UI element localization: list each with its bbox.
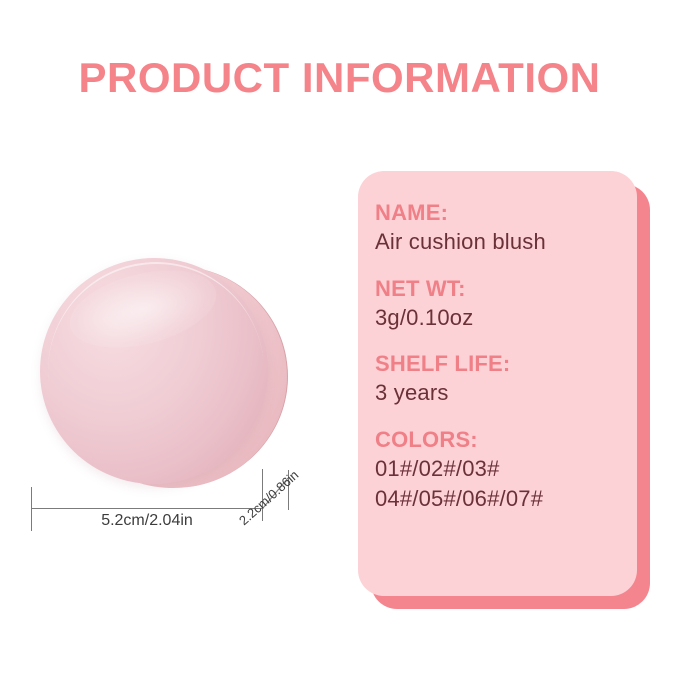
spec-row-shelf-life: SHELF LIFE: 3 years — [375, 350, 637, 408]
spec-row-net-wt: NET WT: 3g/0.10oz — [375, 275, 637, 333]
spec-label-name: NAME: — [375, 199, 637, 227]
product-info-card: NAME: Air cushion blush NET WT: 3g/0.10o… — [358, 171, 650, 609]
spec-label-colors: COLORS: — [375, 426, 637, 454]
spec-row-colors: COLORS: 01#/02#/03# 04#/05#/06#/07# — [375, 426, 637, 513]
height-dimension-label: 2.2cm/0.86in — [236, 467, 301, 528]
spec-value-name: Air cushion blush — [375, 227, 637, 256]
spec-label-net-wt: NET WT: — [375, 275, 637, 303]
spec-label-shelf-life: SHELF LIFE: — [375, 350, 637, 378]
spec-value-net-wt: 3g/0.10oz — [375, 303, 637, 332]
width-dimension-label: 5.2cm/2.04in — [31, 512, 263, 530]
card-surface: NAME: Air cushion blush NET WT: 3g/0.10o… — [358, 171, 637, 596]
spec-value-colors-line2: 04#/05#/06#/07# — [375, 484, 637, 513]
spec-value-shelf-life: 3 years — [375, 378, 637, 407]
spec-row-name: NAME: Air cushion blush — [375, 199, 637, 257]
width-dimension-line — [31, 508, 263, 509]
spec-value-colors-line1: 01#/02#/03# — [375, 454, 637, 483]
